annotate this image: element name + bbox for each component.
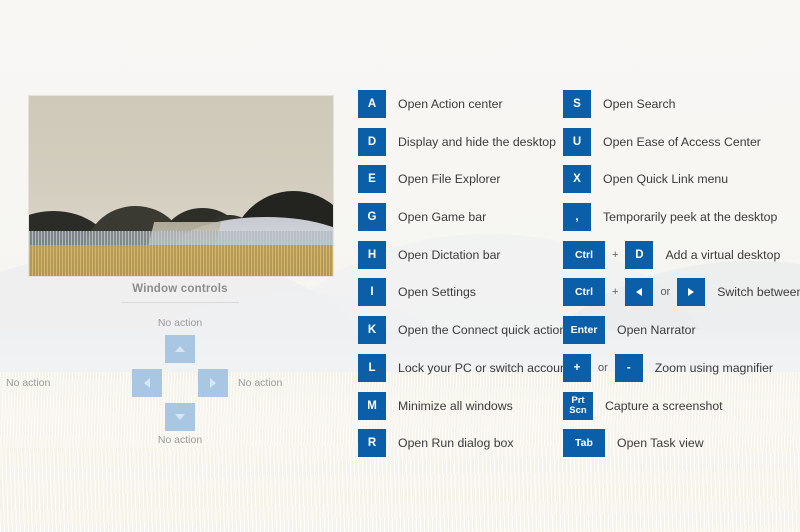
shortcut-description: Open Search	[603, 97, 675, 111]
key-l[interactable]: L	[358, 354, 386, 382]
shortcut-description: Open Game bar	[398, 210, 486, 224]
plus-separator: +	[612, 249, 618, 261]
shortcut-row: IOpen Settings	[358, 276, 558, 308]
shortcut-row: Ctrl+DAdd a virtual desktop	[563, 239, 800, 271]
arrow-left-icon	[636, 288, 642, 296]
dpad-right-label: No action	[238, 377, 348, 389]
key-ctrl[interactable]: Ctrl	[563, 278, 605, 306]
shortcut-row: HOpen Dictation bar	[358, 239, 558, 271]
key-m[interactable]: M	[358, 392, 386, 420]
shortcut-row: DDisplay and hide the desktop	[358, 126, 558, 158]
key-ctrl[interactable]: Ctrl	[563, 241, 605, 269]
key-s[interactable]: S	[563, 90, 591, 118]
key-i[interactable]: I	[358, 278, 386, 306]
shortcut-description: Switch between	[717, 285, 800, 299]
shortcut-row: LLock your PC or switch accounts	[358, 352, 558, 384]
key-enter[interactable]: Enter	[563, 316, 605, 344]
shortcut-description: Minimize all windows	[398, 399, 513, 413]
dpad-left-key[interactable]	[132, 369, 162, 397]
key-k[interactable]: K	[358, 316, 386, 344]
key-g[interactable]: G	[358, 203, 386, 231]
shortcut-description: Open the Connect quick action	[398, 323, 566, 337]
shortcut-row: AOpen Action center	[358, 88, 558, 120]
shortcut-row: ROpen Run dialog box	[358, 427, 558, 459]
key-h[interactable]: H	[358, 241, 386, 269]
shortcut-row: EnterOpen Narrator	[563, 314, 800, 346]
arrow-right-icon	[688, 288, 694, 296]
shortcut-row: ,Temporarily peek at the desktop	[563, 201, 800, 233]
arrow-left-icon	[144, 378, 150, 388]
key-[interactable]: ,	[563, 203, 591, 231]
dpad-up-label: No action	[28, 317, 332, 329]
shortcut-description: Open Settings	[398, 285, 476, 299]
key-e[interactable]: E	[358, 165, 386, 193]
key-prt-scn[interactable]: PrtScn	[563, 392, 593, 420]
shortcut-row: +or-Zoom using magnifier	[563, 352, 800, 384]
window-controls-divider	[121, 302, 239, 303]
key-d[interactable]: D	[358, 128, 386, 156]
shortcut-row: SOpen Search	[563, 88, 800, 120]
key-label-line2: Scn	[569, 405, 586, 416]
key-u[interactable]: U	[563, 128, 591, 156]
plus-separator: +	[612, 286, 618, 298]
key-arrow-right[interactable]	[677, 278, 705, 306]
key-label-stack: PrtScn	[569, 396, 586, 416]
shortcut-overlay-page: Window controls No action No action No a…	[0, 0, 800, 532]
shortcut-description: Open Run dialog box	[398, 436, 514, 450]
shortcut-description: Open Narrator	[617, 323, 696, 337]
shortcut-description: Display and hide the desktop	[398, 135, 556, 149]
window-controls-section: Window controls No action No action No a…	[28, 283, 332, 429]
wallpaper-thumbnail	[28, 95, 334, 277]
key-[interactable]: -	[615, 354, 643, 382]
window-controls-title: Window controls	[28, 283, 332, 295]
dpad-down-key[interactable]	[165, 403, 195, 431]
shortcut-row: TabOpen Task view	[563, 427, 800, 459]
dpad-right-key[interactable]	[198, 369, 228, 397]
shortcut-description: Lock your PC or switch accounts	[398, 361, 576, 375]
dpad-down-label: No action	[28, 434, 332, 446]
dpad-up-key[interactable]	[165, 335, 195, 363]
arrow-down-icon	[175, 414, 185, 420]
shortcut-row: GOpen Game bar	[358, 201, 558, 233]
shortcut-column-right: SOpen SearchUOpen Ease of Access CenterX…	[563, 88, 800, 465]
shortcut-description: Open Dictation bar	[398, 248, 501, 262]
shortcut-description: Open File Explorer	[398, 172, 501, 186]
shortcut-description: Add a virtual desktop	[665, 248, 780, 262]
thumbnail-grass-gold	[29, 245, 333, 276]
shortcut-description: Open Quick Link menu	[603, 172, 728, 186]
key-arrow-left[interactable]	[625, 278, 653, 306]
arrow-up-icon	[175, 346, 185, 352]
shortcut-row: MMinimize all windows	[358, 390, 558, 422]
shortcut-description: Open Ease of Access Center	[603, 135, 761, 149]
shortcut-row: XOpen Quick Link menu	[563, 163, 800, 195]
shortcut-row: PrtScnCapture a screenshot	[563, 390, 800, 422]
key-a[interactable]: A	[358, 90, 386, 118]
key-tab[interactable]: Tab	[563, 429, 605, 457]
shortcut-row: UOpen Ease of Access Center	[563, 126, 800, 158]
shortcut-description: Zoom using magnifier	[655, 361, 773, 375]
shortcut-row: EOpen File Explorer	[358, 163, 558, 195]
or-separator: or	[660, 286, 670, 298]
shortcut-description: Capture a screenshot	[605, 399, 723, 413]
shortcut-description: Open Task view	[617, 436, 704, 450]
dpad-group: No action No action No action No action	[28, 307, 332, 429]
or-separator: or	[598, 362, 608, 374]
key-r[interactable]: R	[358, 429, 386, 457]
shortcut-description: Temporarily peek at the desktop	[603, 210, 777, 224]
key-x[interactable]: X	[563, 165, 591, 193]
shortcut-description: Open Action center	[398, 97, 503, 111]
shortcut-row: KOpen the Connect quick action	[358, 314, 558, 346]
shortcut-row: Ctrl+orSwitch between	[563, 276, 800, 308]
arrow-right-icon	[210, 378, 216, 388]
shortcut-column-left: AOpen Action centerDDisplay and hide the…	[358, 88, 558, 465]
dpad-left-label: No action	[6, 377, 116, 389]
key-[interactable]: +	[563, 354, 591, 382]
key-d[interactable]: D	[625, 241, 653, 269]
